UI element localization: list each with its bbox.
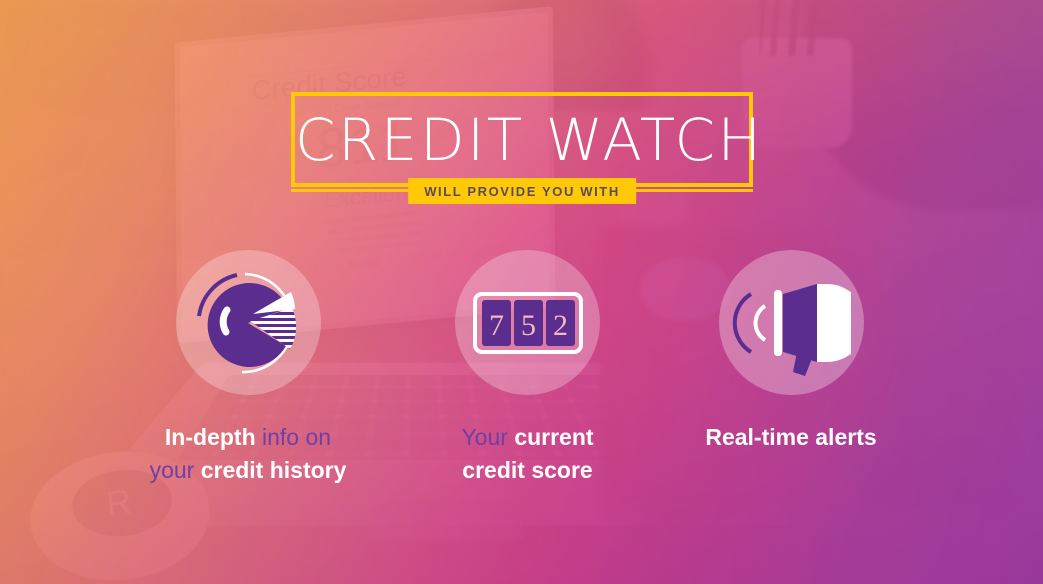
feature-icon-circle (176, 250, 321, 395)
feature-current-credit-score: 7 5 2 Your current credit score (390, 250, 665, 486)
feature-icon-circle: 7 5 2 (455, 250, 600, 395)
svg-text:2: 2 (553, 309, 568, 342)
promo-slide: Credit Score Your Credit Score is 811 Ex… (0, 0, 1043, 584)
caption-bold-2: credit score (462, 457, 592, 483)
caption-regular-2: your (150, 457, 201, 483)
caption-regular-1: Your (461, 424, 514, 450)
pie-chart-icon (183, 258, 313, 388)
caption-regular-1: info on (256, 424, 331, 450)
score-digits-icon: 7 5 2 (473, 288, 583, 358)
caption-bold-1: current (514, 424, 593, 450)
feature-in-depth-info: In-depth info on your credit history (108, 250, 388, 486)
ribbon-banner: WILL PROVIDE YOU WITH (408, 178, 636, 204)
ribbon-tail-left (291, 189, 421, 192)
page-title: CREDIT WATCH (295, 111, 749, 169)
caption-bold-2: credit history (201, 457, 347, 483)
svg-text:5: 5 (521, 309, 536, 342)
svg-text:7: 7 (489, 309, 504, 342)
slide-content: CREDIT WATCH WILL PROVIDE YOU WITH (0, 0, 1043, 584)
feature-caption: Real-time alerts (655, 421, 927, 454)
megaphone-icon (731, 268, 851, 378)
feature-icon-circle (719, 250, 864, 395)
ribbon-tail-right (623, 189, 753, 192)
ribbon-label: WILL PROVIDE YOU WITH (424, 184, 620, 199)
feature-real-time-alerts: Real-time alerts (655, 250, 927, 454)
feature-caption: In-depth info on your credit history (108, 421, 388, 486)
subtitle-ribbon: WILL PROVIDE YOU WITH (291, 178, 753, 204)
title-frame: CREDIT WATCH (291, 92, 753, 187)
caption-bold-1: Real-time alerts (705, 424, 876, 450)
feature-caption: Your current credit score (390, 421, 665, 486)
caption-bold-1: In-depth (165, 424, 256, 450)
